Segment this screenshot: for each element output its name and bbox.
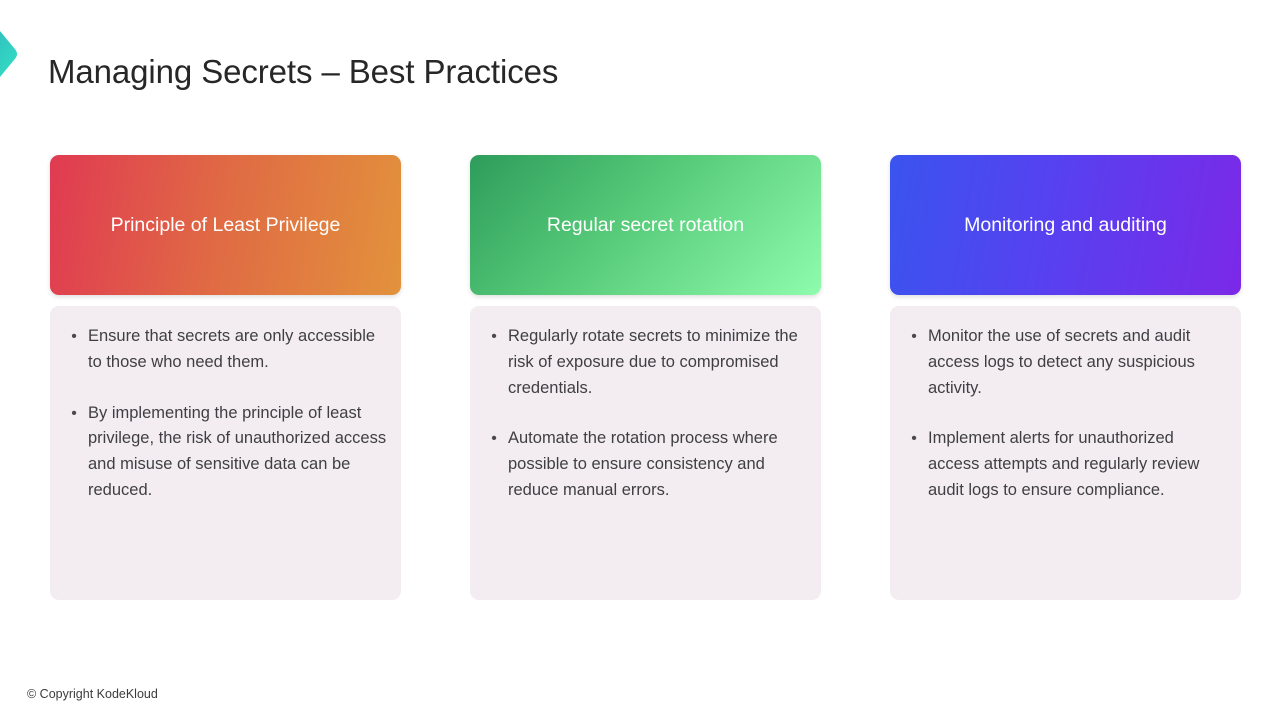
card-principle-of-least-privilege: Principle of Least Privilege • Ensure th… <box>50 155 401 600</box>
card-title-1: Regular secret rotation <box>547 213 744 237</box>
bullet-dot-icon: • <box>480 324 508 350</box>
bullet-dot-icon: • <box>900 426 928 452</box>
bullet-list-1: • Regularly rotate secrets to minimize t… <box>480 324 807 504</box>
list-item: • Automate the rotation process where po… <box>480 426 807 503</box>
bullet-text: Monitor the use of secrets and audit acc… <box>928 324 1227 401</box>
bullet-text: Implement alerts for unauthorized access… <box>928 426 1227 503</box>
card-monitoring-and-auditing: Monitoring and auditing • Monitor the us… <box>890 155 1241 600</box>
bullet-text: By implementing the principle of least p… <box>88 401 387 504</box>
card-body-0: • Ensure that secrets are only accessibl… <box>50 306 401 600</box>
card-body-2: • Monitor the use of secrets and audit a… <box>890 306 1241 600</box>
page-title: Managing Secrets – Best Practices <box>48 53 558 91</box>
list-item: • Implement alerts for unauthorized acce… <box>900 426 1227 503</box>
slide-canvas: Managing Secrets – Best Practices Princi… <box>0 0 1280 720</box>
footer-copyright: © Copyright KodeKloud <box>27 687 158 701</box>
card-title-0: Principle of Least Privilege <box>111 213 341 237</box>
card-title-2: Monitoring and auditing <box>964 213 1167 237</box>
bullet-text: Ensure that secrets are only accessible … <box>88 324 387 376</box>
chevron-accent-icon <box>0 0 44 112</box>
bullet-list-0: • Ensure that secrets are only accessibl… <box>60 324 387 504</box>
card-regular-secret-rotation: Regular secret rotation • Regularly rota… <box>470 155 821 600</box>
cards-row: Principle of Least Privilege • Ensure th… <box>50 155 1241 600</box>
list-item: • By implementing the principle of least… <box>60 401 387 504</box>
card-header-2: Monitoring and auditing <box>890 155 1241 295</box>
bullet-dot-icon: • <box>900 324 928 350</box>
bullet-dot-icon: • <box>480 426 508 452</box>
card-header-1: Regular secret rotation <box>470 155 821 295</box>
bullet-text: Regularly rotate secrets to minimize the… <box>508 324 807 401</box>
bullet-dot-icon: • <box>60 401 88 427</box>
bullet-dot-icon: • <box>60 324 88 350</box>
bullet-text: Automate the rotation process where poss… <box>508 426 807 503</box>
card-header-0: Principle of Least Privilege <box>50 155 401 295</box>
list-item: • Ensure that secrets are only accessibl… <box>60 324 387 376</box>
list-item: • Monitor the use of secrets and audit a… <box>900 324 1227 401</box>
bullet-list-2: • Monitor the use of secrets and audit a… <box>900 324 1227 504</box>
card-body-1: • Regularly rotate secrets to minimize t… <box>470 306 821 600</box>
list-item: • Regularly rotate secrets to minimize t… <box>480 324 807 401</box>
